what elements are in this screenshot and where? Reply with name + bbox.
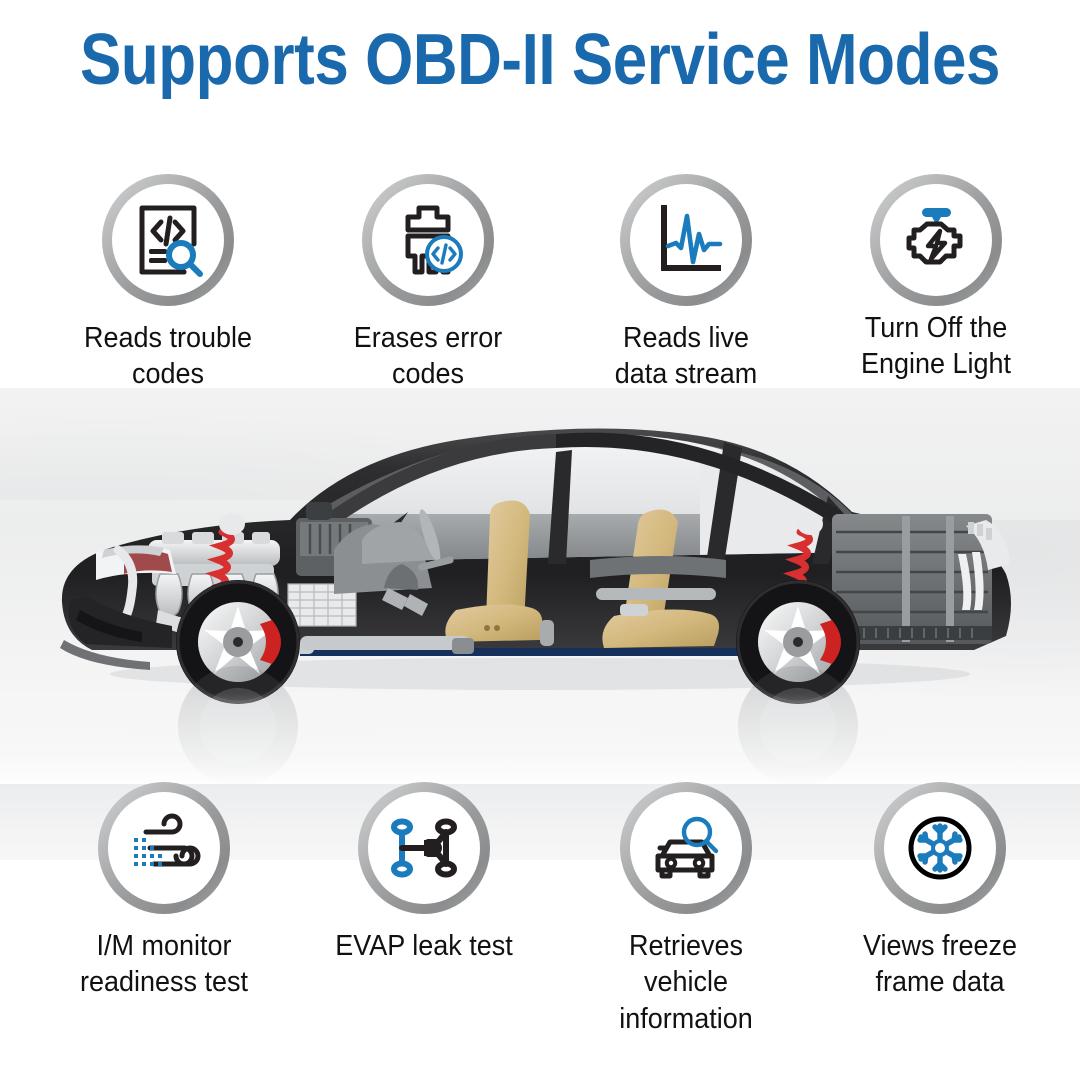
feature-label: Turn Off the Engine Light: [824, 310, 1047, 383]
check-engine-light-off-icon: [896, 200, 976, 280]
page-title: Supports OBD-II Service Modes: [76, 24, 1005, 96]
icon-ring: [362, 174, 494, 306]
icon-ring: [358, 782, 490, 914]
icon-ring: [870, 174, 1002, 306]
feature-label: Reads trouble codes: [56, 320, 279, 393]
feature-label: I/M monitor readiness test: [52, 928, 275, 1001]
live-data-waveform-icon: [646, 200, 726, 280]
feature-label: Reads live data stream: [574, 320, 797, 393]
icon-ring: [620, 782, 752, 914]
car-magnifier-icon: [646, 808, 726, 888]
evap-axle-icon: [384, 808, 464, 888]
sedan-cutaway-illustration: [0, 392, 1080, 784]
snowflake-freeze-icon: [900, 808, 980, 888]
feature-reads-live-data-stream[interactable]: Reads live data stream: [566, 174, 806, 393]
feature-label: Erases error codes: [316, 320, 539, 393]
feature-label: EVAP leak test: [312, 928, 535, 964]
feature-views-freeze-frame-data[interactable]: Views freeze frame data: [820, 782, 1060, 1001]
poster-stage: Supports OBD-II Service Modes: [0, 0, 1080, 1080]
feature-turn-off-engine-light[interactable]: Turn Off the Engine Light: [816, 174, 1056, 383]
icon-ring: [874, 782, 1006, 914]
feature-retrieves-vehicle-information[interactable]: Retrieves vehicle information: [566, 782, 806, 1037]
eraser-code-icon: [388, 200, 468, 280]
feature-im-monitor-readiness-test[interactable]: I/M monitor readiness test: [44, 782, 284, 1001]
airflow-monitor-icon: [124, 808, 204, 888]
feature-erases-error-codes[interactable]: Erases error codes: [308, 174, 548, 393]
document-code-search-icon: [128, 200, 208, 280]
icon-ring: [102, 174, 234, 306]
icon-ring: [620, 174, 752, 306]
icon-ring: [98, 782, 230, 914]
feature-label: Retrieves vehicle information: [574, 928, 797, 1037]
feature-evap-leak-test[interactable]: EVAP leak test: [304, 782, 544, 964]
feature-label: Views freeze frame data: [828, 928, 1051, 1001]
feature-reads-trouble-codes[interactable]: Reads trouble codes: [48, 174, 288, 393]
